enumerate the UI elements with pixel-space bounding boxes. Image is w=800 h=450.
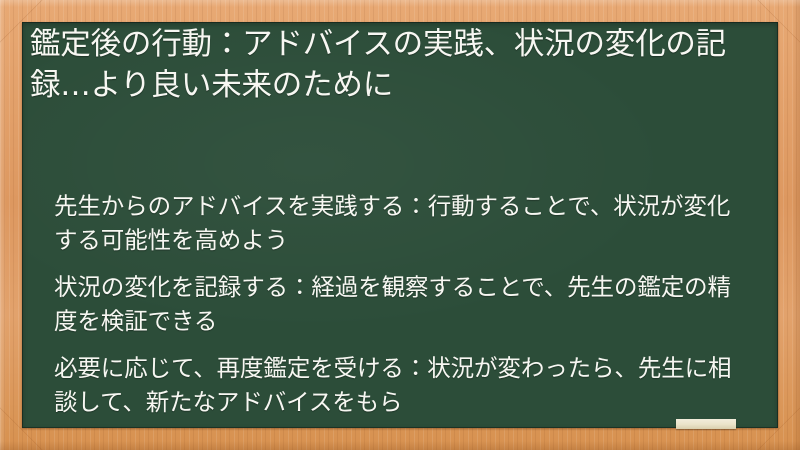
chalkboard-surface: [22, 22, 778, 428]
chalkboard-slide: 鑑定後の行動：アドバイスの実践、状況の変化の記録…より良い未来のために 先生から…: [0, 0, 800, 450]
chalk-eraser-icon: [676, 419, 736, 429]
